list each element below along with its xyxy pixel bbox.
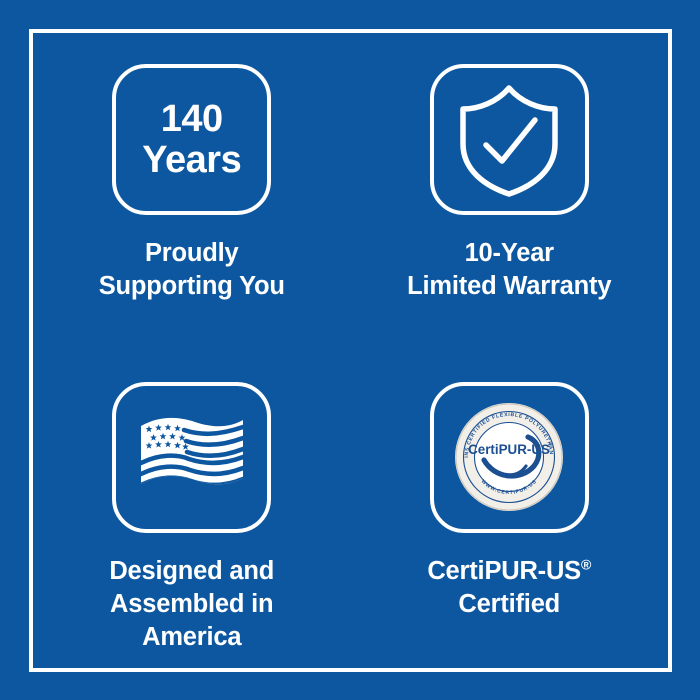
140-years-icon: 140Years bbox=[112, 64, 271, 215]
caption-line-1: Proudly bbox=[99, 237, 285, 270]
caption-line-1: CertiPUR-US® bbox=[427, 555, 591, 588]
caption-line-2: Assembled in bbox=[109, 588, 274, 621]
140-years-icon-text: 140Years bbox=[142, 99, 241, 180]
caption-line-1: Designed and bbox=[109, 555, 274, 588]
badge-caption-america: Designed andAssembled inAmerica bbox=[109, 555, 274, 654]
badge-caption-years: ProudlySupporting You bbox=[99, 237, 285, 303]
badge-cell-warranty: 10-YearLimited Warranty bbox=[351, 33, 669, 351]
shield-check-icon-box bbox=[430, 64, 589, 215]
usa-flag-icon bbox=[137, 414, 247, 500]
usa-flag-icon-box bbox=[112, 382, 271, 533]
badge-cell-years: 140Years ProudlySupporting You bbox=[33, 33, 351, 351]
badge-cell-certipur: CertiPUR-US ® CONTAINS CERTIFIED FLEXIBL… bbox=[351, 351, 669, 669]
caption-line-2: Limited Warranty bbox=[407, 270, 611, 303]
shield-check-icon bbox=[455, 82, 563, 198]
badge-caption-warranty: 10-YearLimited Warranty bbox=[407, 237, 611, 303]
registered-mark-icon: ® bbox=[581, 556, 591, 572]
caption-line-3: America bbox=[109, 621, 274, 654]
caption-line-2: Certified bbox=[427, 588, 591, 621]
badge-caption-certipur: CertiPUR-US®Certified bbox=[427, 555, 591, 621]
caption-line-2: Supporting You bbox=[99, 270, 285, 303]
badge-cell-america: Designed andAssembled inAmerica bbox=[33, 351, 351, 669]
years-word: Years bbox=[142, 140, 241, 180]
caption-line-1: 10-Year bbox=[407, 237, 611, 270]
certipur-seal-wordmark: CertiPUR-US bbox=[468, 442, 550, 457]
certipur-us-seal-icon: CertiPUR-US ® CONTAINS CERTIFIED FLEXIBL… bbox=[454, 402, 564, 512]
badge-grid: 140Years ProudlySupporting You 10-YearLi… bbox=[33, 33, 668, 668]
trust-badge-panel: 140Years ProudlySupporting You 10-YearLi… bbox=[0, 0, 700, 700]
certipur-us-seal-icon-box: CertiPUR-US ® CONTAINS CERTIFIED FLEXIBL… bbox=[430, 382, 589, 533]
years-number: 140 bbox=[142, 99, 241, 139]
certipur-name: CertiPUR-US bbox=[427, 557, 581, 585]
